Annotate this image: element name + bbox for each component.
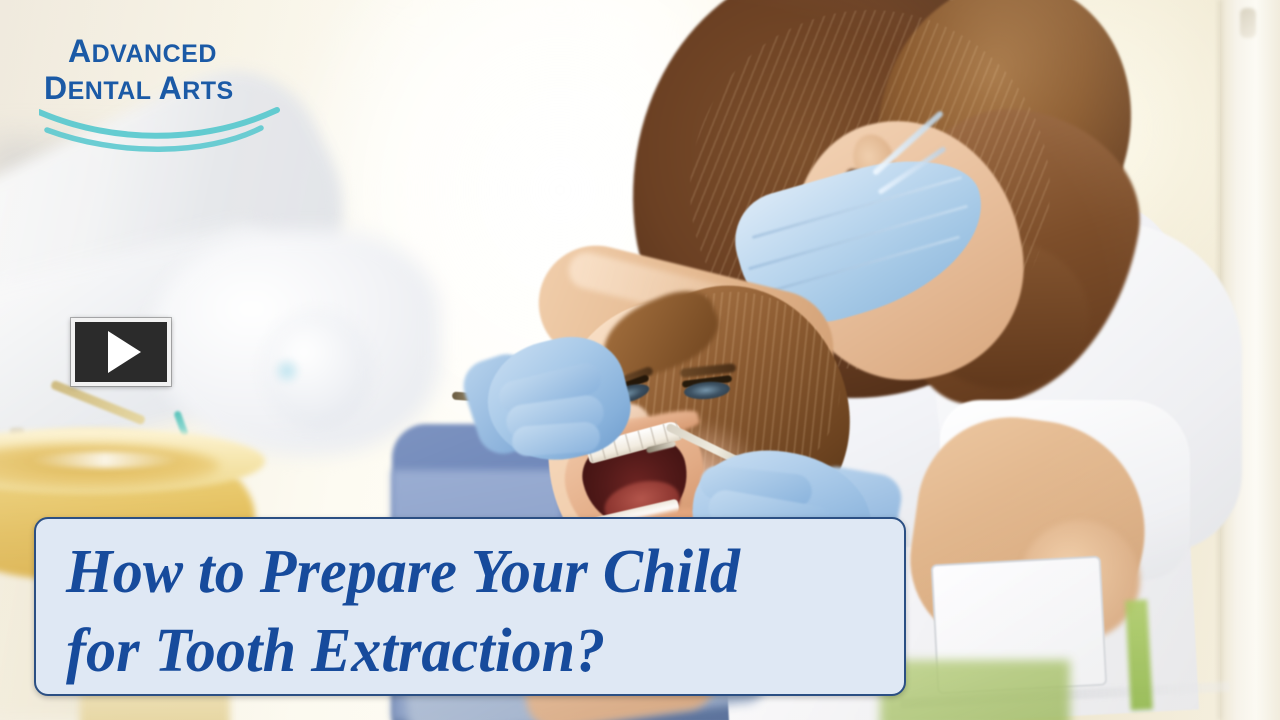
video-thumbnail-slide: ADVANCED DENTAL ARTS How to Prepare Your… [0, 0, 1280, 720]
play-button[interactable] [71, 318, 171, 386]
logo-line1-initial: A [68, 33, 92, 69]
caption-line-1: How to Prepare Your Child [66, 533, 850, 612]
logo-line-1: ADVANCED [68, 35, 217, 67]
door-knob [1240, 8, 1256, 38]
spittoon-highlight [30, 452, 180, 468]
swoosh-icon [39, 98, 294, 156]
play-triangle-icon [108, 331, 141, 373]
glove-finger [511, 421, 601, 457]
title-caption-box: How to Prepare Your Child for Tooth Extr… [34, 517, 906, 696]
dental-equipment-indicator [272, 358, 302, 384]
logo-line1-rest: DVANCED [92, 40, 217, 68]
uniform-trousers [880, 660, 1070, 720]
logo[interactable]: ADVANCED DENTAL ARTS [44, 26, 294, 156]
caption-line-2: for Tooth Extraction? [66, 612, 850, 691]
